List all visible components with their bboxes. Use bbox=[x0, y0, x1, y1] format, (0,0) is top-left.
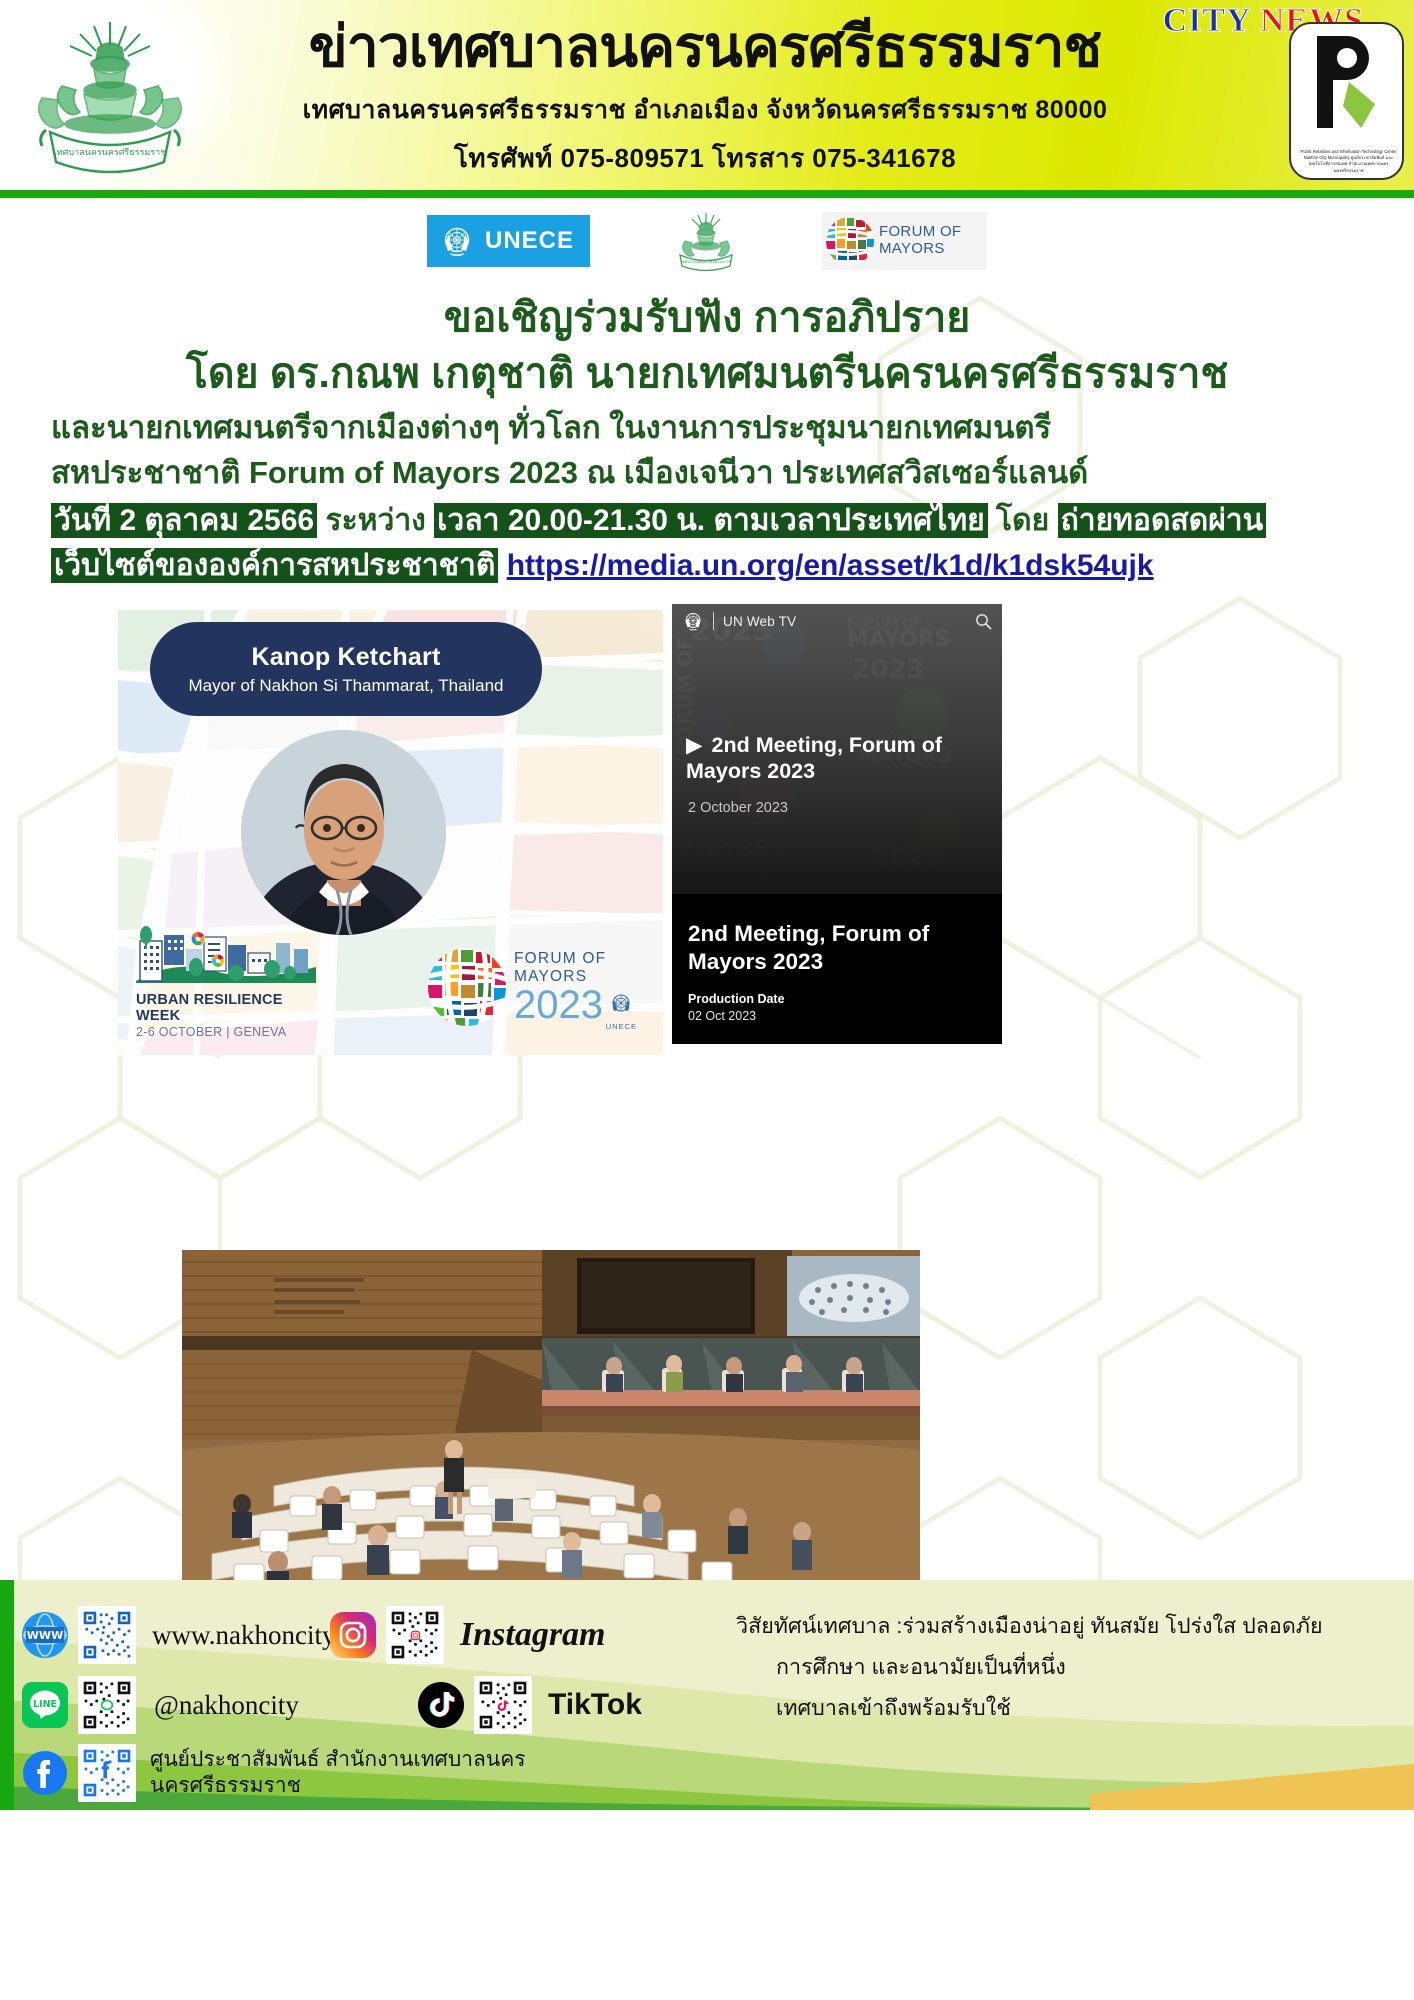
un-emblem-small-icon bbox=[608, 991, 634, 1017]
instagram-icon[interactable] bbox=[330, 1612, 376, 1658]
forum-of-mayors-2023-text: FORUM OF MAYORS 2023 bbox=[514, 950, 606, 1024]
forum-line-2: MAYORS bbox=[879, 241, 961, 258]
event-time-highlight: เวลา 20.00-21.30 น. ตามเวลาประเทศไทย bbox=[434, 503, 988, 538]
announce-line-4: สหประชาชาติ Forum of Mayors 2023 ณ เมือง… bbox=[37, 451, 1377, 496]
line-id-text[interactable]: @nakhoncity bbox=[154, 1690, 299, 1721]
announcement-block: ขอเชิญร่วมรับฟัง การอภิปราย โดย ดร.กณพ เ… bbox=[37, 290, 1377, 588]
video-title: ▶2nd Meeting, Forum of Mayors 2023 bbox=[686, 732, 986, 784]
vision-line-2: การศึกษา และอนามัยเป็นที่หนึ่ง bbox=[736, 1647, 1396, 1688]
urban-resilience-week-logo: URBAN RESILIENCE WEEK 2-6 OCTOBER | GENE… bbox=[136, 923, 326, 1039]
svg-text:เทศบาลนครนครศรีธรรมราช: เทศบาลนครนครศรีธรรมราช bbox=[681, 259, 731, 264]
forum-of-mayors-2023-logo: FORUM OF MAYORS 2023 UNECE bbox=[426, 941, 641, 1033]
footer-social-block: WWW bbox=[0, 1580, 712, 1810]
masthead-phone: โทรศัพท์ 075-809571 โทรสาร 075-341678 bbox=[200, 138, 1210, 179]
pr-center-line-1: ศูนย์ประชาสัมพันธ์ สำนักงานเทศบาลนคร bbox=[150, 1747, 526, 1773]
media-area: Kanop Ketchart Mayor of Nakhon Si Thamma… bbox=[0, 596, 1414, 1066]
instagram-label: Instagram bbox=[460, 1616, 606, 1654]
un-webtv-detail-block: 2nd Meeting, Forum of Mayors 2023 Produc… bbox=[672, 894, 1002, 1044]
pr-department-logo: Public Relations and Information Technol… bbox=[1289, 22, 1404, 180]
svg-text:LINE: LINE bbox=[33, 1699, 57, 1710]
facebook-qr-code[interactable] bbox=[78, 1744, 136, 1802]
forum-line-1: FORUM OF bbox=[879, 224, 961, 241]
announce-line-5: วันที่ 2 ตุลาคม 2566 ระหว่าง เวลา 20.00-… bbox=[37, 498, 1377, 543]
footer-row-facebook: ศูนย์ประชาสัมพันธ์ สำนักงานเทศบาลนคร นคร… bbox=[22, 1744, 526, 1802]
tiktok-qr-code[interactable] bbox=[474, 1676, 532, 1734]
green-divider-bar bbox=[0, 190, 1414, 198]
portrait-illustration bbox=[241, 730, 446, 935]
fom2-year: 2023 bbox=[514, 986, 606, 1024]
play-icon[interactable]: ▶ bbox=[686, 732, 703, 758]
municipality-seal-icon: เทศบาลนครนครศรีธรรมราช bbox=[667, 211, 745, 271]
footer-vision-block: วิสัยทัศน์เทศบาล :ร่วมสร้างเมืองน่าอยู่ … bbox=[712, 1580, 1414, 1810]
livestream-highlight: ถ่ายทอดสดผ่าน bbox=[1058, 503, 1267, 538]
speaker-name-pill: Kanop Ketchart Mayor of Nakhon Si Thamma… bbox=[150, 622, 542, 716]
un-media-link[interactable]: https://media.un.org/en/asset/k1d/k1dsk5… bbox=[507, 549, 1154, 582]
forum-of-mayors-text: FORUM OF MAYORS bbox=[879, 224, 961, 258]
conference-hall-photo bbox=[182, 1250, 920, 1590]
un-webtv-panel[interactable]: 2023 FORUM OF MAYORS 2023 FORUM OF FORUM… bbox=[672, 604, 1002, 1044]
unece-label: UNECE bbox=[485, 227, 574, 255]
announce-line-1: ขอเชิญร่วมรับฟัง การอภิปราย bbox=[37, 290, 1377, 344]
pr-center-line-2: นครศรีธรรมราช bbox=[150, 1773, 526, 1799]
masthead-web-email: WWW.NAKHONCITY.ORG : pr.nakhoncity@gmail… bbox=[200, 187, 1210, 190]
vision-statement: วิสัยทัศน์เทศบาล :ร่วมสร้างเมืองน่าอยู่ … bbox=[736, 1606, 1396, 1729]
un-website-highlight: เว็บไซต์ขององค์การสหประชาชาติ bbox=[51, 548, 498, 583]
conference-hall-illustration bbox=[182, 1250, 920, 1590]
fom2-line-1: FORUM OF bbox=[514, 950, 606, 968]
forum-mosaic-globe-icon bbox=[824, 215, 876, 267]
search-icon[interactable] bbox=[975, 613, 992, 630]
unece-small-label: UNECE bbox=[606, 1022, 637, 1031]
footer-row-tiktok: TikTok bbox=[418, 1676, 642, 1734]
detail-title: 2nd Meeting, Forum of Mayors 2023 bbox=[688, 920, 986, 976]
masthead-address: เทศบาลนครนครศรีธรรมราช อำเภอเมือง จังหวั… bbox=[200, 90, 1210, 130]
un-webtv-video-thumbnail[interactable]: 2023 FORUM OF MAYORS 2023 FORUM OF FORUM… bbox=[672, 604, 1002, 894]
instagram-qr-code[interactable] bbox=[386, 1606, 444, 1664]
city-crest-icon: เทศบาลนครนครศรีธรรมราช bbox=[20, 14, 200, 179]
masthead-title: ข่าวเทศบาลนครนครศรีธรรมราช bbox=[200, 18, 1210, 78]
masthead: เทศบาลนครนครศรีธรรมราช CITY NEWS ข่าวเทศ… bbox=[0, 0, 1414, 190]
facebook-icon[interactable] bbox=[22, 1750, 68, 1796]
event-date-highlight: วันที่ 2 ตุลาคม 2566 bbox=[51, 503, 317, 538]
un-webtv-brand-bar: UN Web TV bbox=[672, 604, 1002, 638]
vision-line-1: วิสัยทัศน์เทศบาล :ร่วมสร้างเมืองน่าอยู่ … bbox=[736, 1606, 1396, 1647]
poster-body: UNECE เทศบาลนครนครศรี bbox=[0, 198, 1414, 1810]
line-icon[interactable]: LINE bbox=[22, 1682, 68, 1728]
unece-logo: UNECE bbox=[427, 215, 590, 267]
footer-row-website: WWW bbox=[22, 1606, 376, 1664]
pr-monogram-icon bbox=[1305, 32, 1391, 132]
un-emblem-icon bbox=[682, 610, 704, 632]
speaker-portrait-photo bbox=[241, 730, 446, 935]
tiktok-icon[interactable] bbox=[418, 1682, 464, 1728]
masthead-text-block: ข่าวเทศบาลนครนครศรีธรรมราช เทศบาลนครนครศ… bbox=[200, 18, 1210, 190]
production-date-label: Production Date bbox=[688, 992, 986, 1006]
video-date: 2 October 2023 bbox=[688, 800, 788, 816]
poster-footer: WWW bbox=[0, 1580, 1414, 1810]
urw-title: URBAN RESILIENCE WEEK bbox=[136, 992, 326, 1024]
urw-subtitle: 2-6 OCTOBER | GENEVA bbox=[136, 1025, 326, 1039]
un-webtv-brand-label: UN Web TV bbox=[723, 614, 796, 629]
pr-center-text: ศูนย์ประชาสัมพันธ์ สำนักงานเทศบาลนคร นคร… bbox=[150, 1747, 526, 1800]
announce-line-2: โดย ดร.กณพ เกตุชาติ นายกเทศมนตรีนครนครศร… bbox=[37, 346, 1377, 400]
partner-logos-row: UNECE เทศบาลนครนครศรี bbox=[427, 210, 987, 272]
between-word: ระหว่าง bbox=[325, 504, 425, 537]
footer-row-instagram: Instagram bbox=[330, 1606, 606, 1664]
video-title-text: 2nd Meeting, Forum of Mayors 2023 bbox=[686, 733, 942, 783]
city-skyline-icon bbox=[136, 923, 316, 985]
speaker-name: Kanop Ketchart bbox=[150, 643, 542, 672]
svg-text:WWW: WWW bbox=[27, 1629, 63, 1642]
by-word: โดย bbox=[996, 504, 1049, 537]
poster-page: เทศบาลนครนครศรีธรรมราช CITY NEWS ข่าวเทศ… bbox=[0, 0, 1414, 2000]
forum-mosaic-globe-large-icon bbox=[426, 946, 508, 1028]
un-emblem-icon bbox=[437, 221, 477, 261]
vision-line-3: เทศบาลเข้าถึงพร้อมรับใช้ bbox=[736, 1688, 1396, 1729]
website-qr-code[interactable] bbox=[78, 1606, 136, 1664]
speaker-card: Kanop Ketchart Mayor of Nakhon Si Thamma… bbox=[118, 610, 663, 1055]
forum-of-mayors-logo: FORUM OF MAYORS bbox=[822, 212, 987, 270]
tiktok-label: TikTok bbox=[548, 1688, 642, 1722]
footer-row-line: LINE bbox=[22, 1676, 299, 1734]
announce-line-3: และนายกเทศมนตรีจากเมืองต่างๆ ทั่วโลก ในง… bbox=[37, 406, 1377, 451]
line-qr-code[interactable] bbox=[78, 1676, 136, 1734]
www-globe-icon[interactable]: WWW bbox=[22, 1612, 68, 1658]
announce-line-6: เว็บไซต์ขององค์การสหประชาชาติ https://me… bbox=[37, 543, 1377, 588]
pr-logo-caption: Public Relations and Information Technol… bbox=[1295, 149, 1402, 174]
unece-small-logo: UNECE bbox=[606, 991, 637, 1031]
brand-divider bbox=[713, 612, 714, 630]
svg-text:เทศบาลนครนครศรีธรรมราช: เทศบาลนครนครศรีธรรมราช bbox=[54, 147, 167, 158]
speaker-role: Mayor of Nakhon Si Thammarat, Thailand bbox=[150, 676, 542, 696]
production-date-value: 02 Oct 2023 bbox=[688, 1009, 986, 1023]
